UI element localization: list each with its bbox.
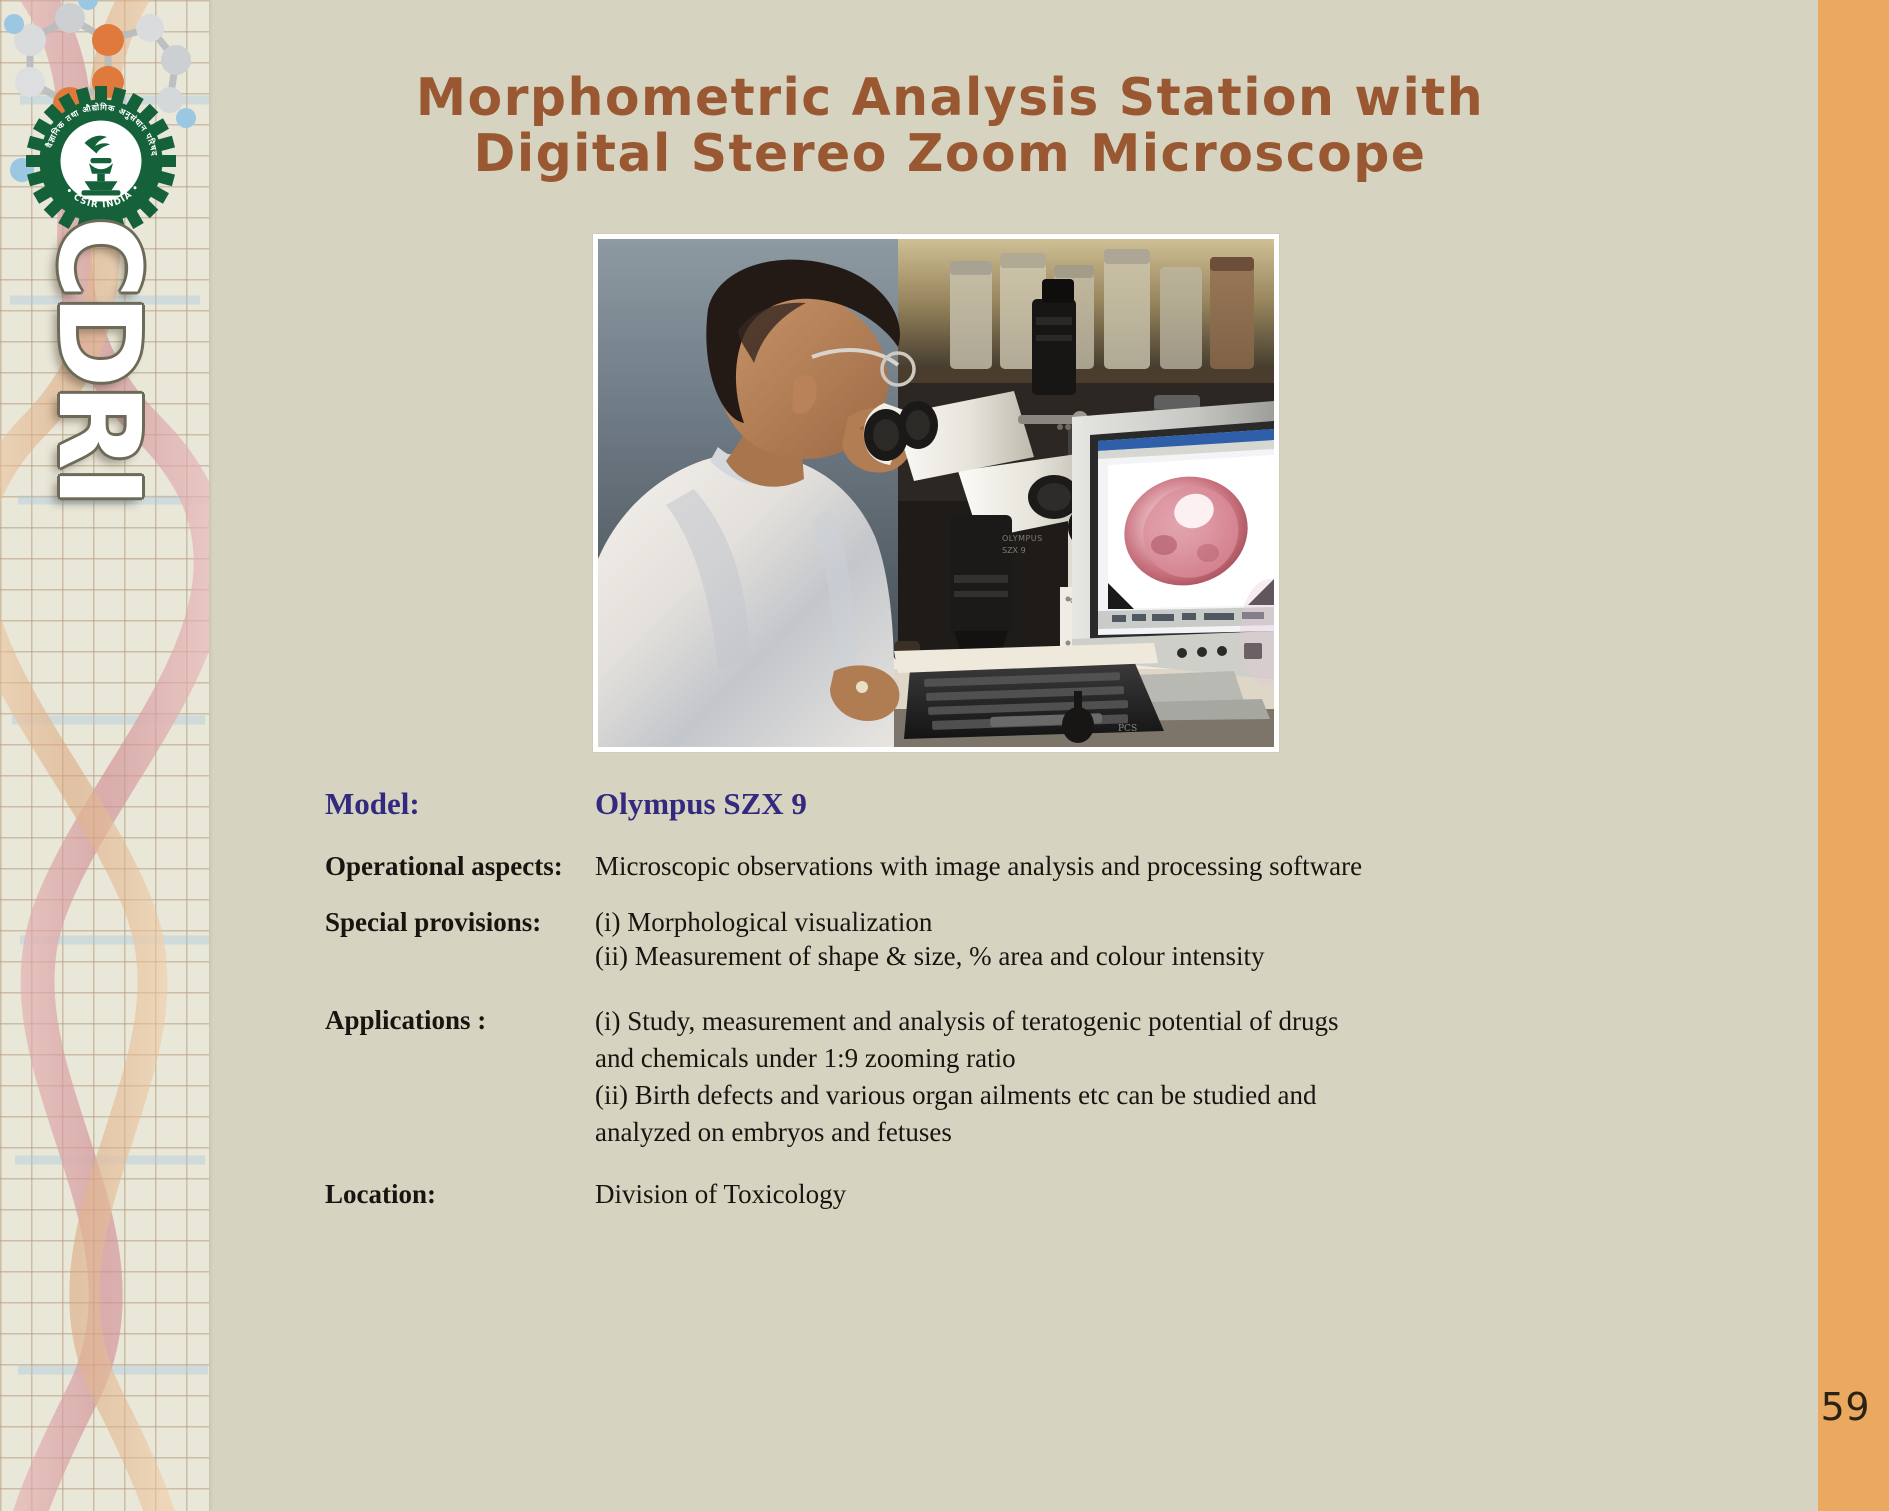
page-title: Morphometric Analysis Station with Digit… [349, 70, 1552, 182]
equipment-photo-frame: OLYMPUS [593, 234, 1279, 752]
spec-row-applications: Applications : (i) Study, measurement an… [325, 1003, 1625, 1151]
spec-label-location: Location: [325, 1177, 595, 1211]
spec-line: Microscopic observations with image anal… [595, 849, 1362, 883]
spec-row-location: Location: Division of Toxicology [325, 1177, 1625, 1211]
document-page: वैज्ञानिक तथा औद्योगिक अनुसंधान परिषद • … [0, 0, 1889, 1511]
spec-row-special-provisions: Special provisions: (i) Morphological vi… [325, 905, 1625, 973]
spec-line: analyzed on embryos and fetuses [595, 1114, 1339, 1151]
spec-line: (i) Morphological visualization [595, 905, 1265, 939]
spec-value-location: Division of Toxicology [595, 1177, 846, 1211]
spec-line: and chemicals under 1:9 zooming ratio [595, 1040, 1339, 1077]
equipment-photo: OLYMPUS [598, 239, 1274, 747]
spec-row-operational-aspects: Operational aspects: Microscopic observa… [325, 849, 1625, 883]
sidebar-edge [209, 0, 213, 1511]
spec-value-special-provisions: (i) Morphological visualization (ii) Mea… [595, 905, 1265, 973]
spec-row-model: Model: Olympus SZX 9 [325, 785, 1625, 823]
svg-text:OLYMPUS: OLYMPUS [1002, 534, 1043, 543]
spec-value-model: Olympus SZX 9 [595, 785, 807, 823]
spec-value-operational-aspects: Microscopic observations with image anal… [595, 849, 1362, 883]
page-number: 59 [1821, 1385, 1870, 1429]
spec-label-applications: Applications : [325, 1003, 595, 1037]
specifications-block: Model: Olympus SZX 9 Operational aspects… [325, 785, 1625, 1211]
spec-label-special-provisions: Special provisions: [325, 905, 595, 939]
spec-label-model: Model: [325, 785, 595, 823]
svg-text:SZX 9: SZX 9 [1002, 546, 1026, 555]
cdri-wordmark: CDRI [38, 205, 158, 515]
spec-value-applications: (i) Study, measurement and analysis of t… [595, 1003, 1339, 1151]
spec-line: (ii) Measurement of shape & size, % area… [595, 939, 1265, 973]
right-accent-strip [1818, 0, 1889, 1511]
spec-line: (ii) Birth defects and various organ ail… [595, 1077, 1339, 1114]
page-title-line-1: Morphometric Analysis Station with [349, 70, 1552, 126]
svg-text:PCS: PCS [1118, 724, 1137, 734]
spec-line: (i) Study, measurement and analysis of t… [595, 1003, 1339, 1040]
decorative-sidebar: वैज्ञानिक तथा औद्योगिक अनुसंधान परिषद • … [0, 0, 209, 1511]
spec-label-operational-aspects: Operational aspects: [325, 849, 595, 883]
page-title-line-2: Digital Stereo Zoom Microscope [349, 126, 1552, 182]
